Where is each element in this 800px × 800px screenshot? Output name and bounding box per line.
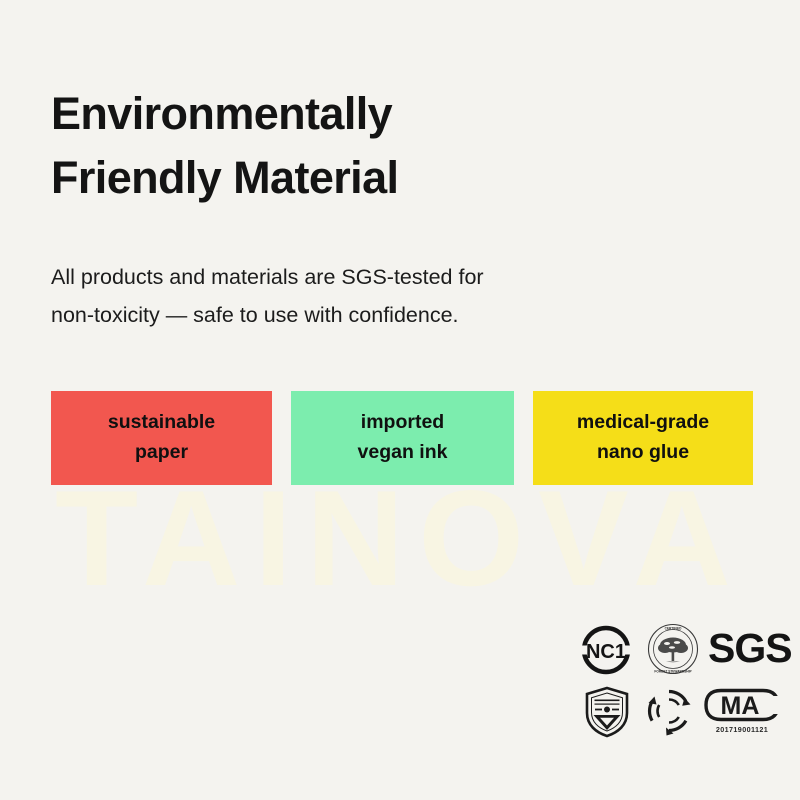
material-tag-medical-grade-nano-glue: medical-grade nano glue <box>533 391 753 485</box>
page-subtitle-line-1: All products and materials are SGS-teste… <box>51 258 651 296</box>
material-tag-imported-vegan-ink: imported vegan ink <box>291 391 514 485</box>
page-subtitle: All products and materials are SGS-teste… <box>51 258 651 335</box>
svg-text:CERTIFIED: CERTIFIED <box>665 626 683 630</box>
fsc-tree-seal-icon: CERTIFIED FOREST STEWARDSHIP <box>646 622 700 676</box>
tag-label-line-2: vegan ink <box>358 438 448 468</box>
sgs-certification-icon: SGS <box>708 628 792 669</box>
page-title: Environmentally Friendly Material <box>51 82 691 210</box>
page-title-line-1: Environmentally <box>51 82 691 146</box>
recycling-symbol-icon <box>644 686 694 736</box>
page-title-line-2: Friendly Material <box>51 146 691 210</box>
tag-label-line-2: nano glue <box>597 438 689 468</box>
shield-quality-icon <box>584 686 630 738</box>
material-tag-row: sustainable paper imported vegan ink med… <box>51 391 753 485</box>
tag-label-line-1: sustainable <box>108 408 215 438</box>
svg-text:MA: MA <box>721 692 760 720</box>
svg-text:NC1: NC1 <box>586 641 626 663</box>
material-tag-sustainable-paper: sustainable paper <box>51 391 272 485</box>
tag-label-line-1: imported <box>361 408 444 438</box>
svg-text:FOREST STEWARDSHIP: FOREST STEWARDSHIP <box>654 670 692 674</box>
page-subtitle-line-2: non-toxicity — safe to use with confiden… <box>51 296 651 334</box>
tag-label-line-2: paper <box>135 438 188 468</box>
poster-canvas: TAINOVA Environmentally Friendly Materia… <box>0 0 800 800</box>
certification-badge-group: NC1 CERTI <box>578 620 778 748</box>
tag-label-line-1: medical-grade <box>577 408 709 438</box>
brand-watermark: TAINOVA <box>0 470 800 606</box>
sgs-wordmark: SGS <box>708 628 792 669</box>
nc1-certification-icon: NC1 <box>580 624 632 676</box>
cma-certification-icon: MA 201719001121 <box>704 686 780 734</box>
cma-certificate-number: 201719001121 <box>704 725 780 734</box>
